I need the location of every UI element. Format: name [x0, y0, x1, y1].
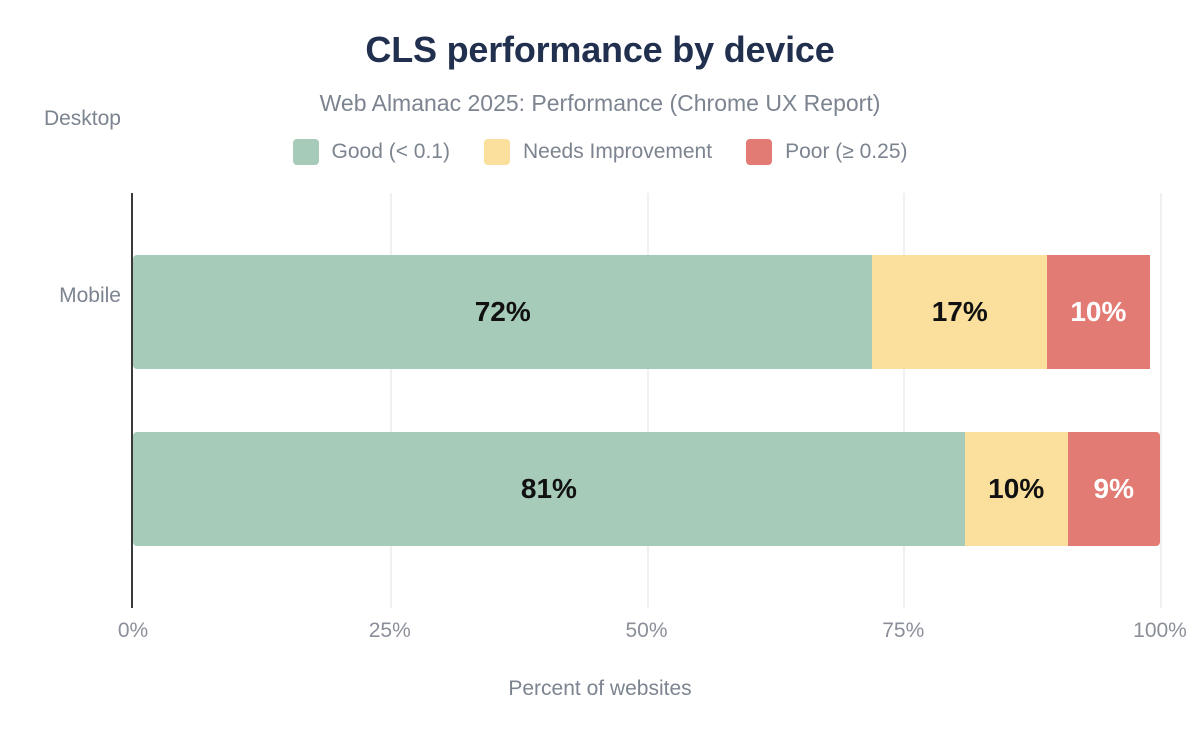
x-axis-tick-label: 75% [833, 618, 973, 644]
bar-segment[interactable]: 9% [1068, 432, 1160, 546]
legend-item-good[interactable]: Good (< 0.1) [293, 139, 450, 165]
legend-swatch-poor [746, 139, 772, 165]
chart-container: CLS performance by device Web Almanac 20… [0, 0, 1200, 742]
bar-segment[interactable]: 17% [872, 255, 1047, 369]
table-row[interactable]: 72%17%10% [133, 255, 1160, 369]
bar-segment[interactable]: 10% [1047, 255, 1150, 369]
y-axis-label-mobile: Mobile [0, 283, 121, 309]
gridline [1160, 193, 1162, 608]
bar-segment[interactable]: 72% [133, 255, 872, 369]
legend-item-needs-improvement[interactable]: Needs Improvement [484, 139, 712, 165]
bar-segment[interactable]: 10% [965, 432, 1068, 546]
legend-swatch-needs-improvement [484, 139, 510, 165]
x-axis-tick-label: 50% [577, 618, 717, 644]
bar-segment[interactable]: 81% [133, 432, 965, 546]
legend-label-needs-improvement: Needs Improvement [523, 139, 712, 165]
x-axis-tick-label: 0% [63, 618, 203, 644]
table-row[interactable]: 81%10%9% [133, 432, 1160, 546]
legend-item-poor[interactable]: Poor (≥ 0.25) [746, 139, 907, 165]
x-axis-tick-label: 100% [1090, 618, 1200, 644]
chart-subtitle: Web Almanac 2025: Performance (Chrome UX… [0, 88, 1200, 118]
chart-title: CLS performance by device [0, 28, 1200, 72]
legend-label-good: Good (< 0.1) [332, 139, 450, 165]
x-axis-tick-label: 25% [320, 618, 460, 644]
x-axis-title: Percent of websites [0, 676, 1200, 702]
plot-area: 72%17%10% 81%10%9% [133, 193, 1160, 608]
y-axis-label-desktop: Desktop [0, 106, 121, 132]
legend-label-poor: Poor (≥ 0.25) [785, 139, 907, 165]
chart-legend: Good (< 0.1) Needs Improvement Poor (≥ 0… [0, 139, 1200, 165]
legend-swatch-good [293, 139, 319, 165]
